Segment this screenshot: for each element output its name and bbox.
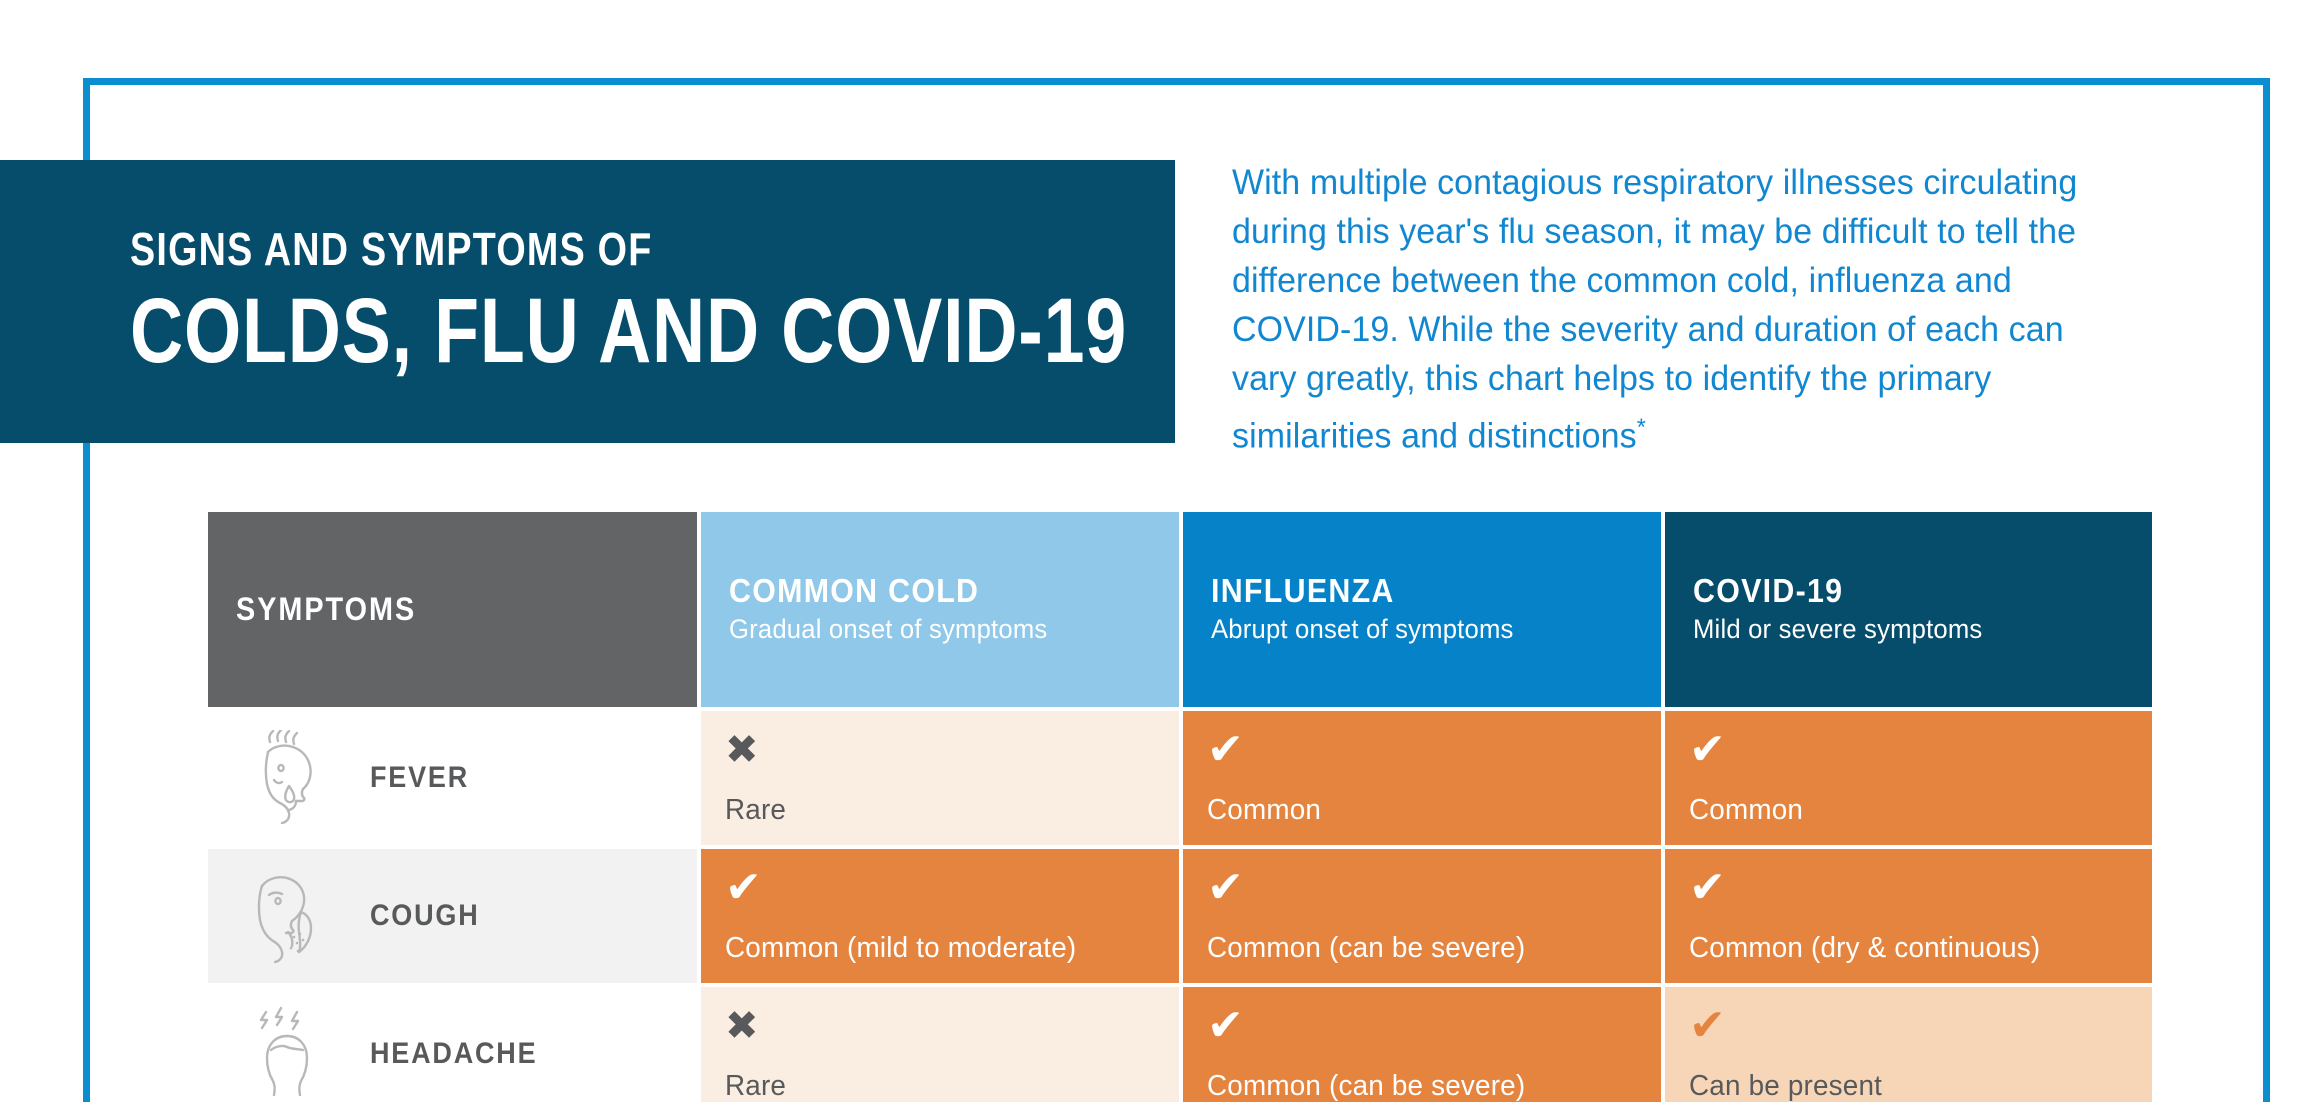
x-icon: ✖: [725, 1005, 1155, 1053]
cell-cough-common-cold: ✔ Common (mild to moderate): [701, 849, 1179, 983]
title-banner: SIGNS AND SYMPTOMS OF COLDS, FLU AND COV…: [0, 160, 1175, 443]
table-row: FEVER ✖ Rare ✔ Common ✔ Common: [208, 711, 2148, 845]
check-icon: ✔: [1689, 729, 2128, 777]
fever-face-icon: [244, 728, 330, 828]
table-row: HEADACHE ✖ Rare ✔ Common (can be severe)…: [208, 987, 2148, 1102]
cough-face-icon: [244, 866, 330, 966]
column-header-influenza: INFLUENZA Abrupt onset of symptoms: [1183, 512, 1661, 707]
infographic-page: SIGNS AND SYMPTOMS OF COLDS, FLU AND COV…: [0, 0, 2322, 1102]
cell-fever-influenza: ✔ Common: [1183, 711, 1661, 845]
cell-fever-common-cold: ✖ Rare: [701, 711, 1179, 845]
column-header-symptoms-label: SYMPTOMS: [236, 591, 626, 628]
cell-value-text: Common (mild to moderate): [725, 932, 1138, 983]
cell-headache-covid-19: ✔ Can be present: [1665, 987, 2152, 1102]
cell-value-text: Common (can be severe): [1207, 932, 1620, 983]
cell-value-text: Common: [1207, 794, 1620, 845]
symptom-label: FEVER: [370, 761, 469, 795]
footnote-marker: *: [1637, 414, 1646, 441]
symptom-comparison-table: SYMPTOMS COMMON COLD Gradual onset of sy…: [208, 512, 2148, 1102]
headache-head-icon: [244, 1004, 330, 1102]
symptom-label: COUGH: [370, 899, 480, 933]
intro-paragraph: With multiple contagious respiratory ill…: [1232, 158, 2110, 461]
column-header-influenza-title: INFLUENZA: [1211, 574, 1599, 609]
symptom-cell-fever: FEVER: [208, 711, 697, 845]
frame-right-border: [2263, 78, 2270, 1102]
check-icon: ✔: [1689, 1005, 2128, 1053]
symptom-cell-cough: COUGH: [208, 849, 697, 983]
check-icon: ✔: [1207, 867, 1637, 915]
table-row: COUGH ✔ Common (mild to moderate) ✔ Comm…: [208, 849, 2148, 983]
symptom-cell-headache: HEADACHE: [208, 987, 697, 1102]
cell-value-text: Rare: [725, 794, 1138, 845]
column-header-covid-19-subtitle: Mild or severe symptoms: [1693, 615, 2102, 645]
column-header-covid-19-title: COVID-19: [1693, 574, 2090, 609]
column-header-symptoms: SYMPTOMS: [208, 512, 697, 707]
title-eyebrow: SIGNS AND SYMPTOMS OF: [130, 226, 987, 272]
check-icon: ✔: [1689, 867, 2128, 915]
cell-fever-covid-19: ✔ Common: [1665, 711, 2152, 845]
column-header-influenza-subtitle: Abrupt onset of symptoms: [1211, 615, 1612, 645]
column-header-common-cold: COMMON COLD Gradual onset of symptoms: [701, 512, 1179, 707]
page-title: COLDS, FLU AND COVID-19: [130, 286, 966, 376]
cell-value-text: Common (dry & continuous): [1689, 932, 2110, 983]
table-header-row: SYMPTOMS COMMON COLD Gradual onset of sy…: [208, 512, 2148, 707]
check-icon: ✔: [725, 867, 1155, 915]
cell-value-text: Can be present: [1689, 1070, 2110, 1102]
cell-cough-covid-19: ✔ Common (dry & continuous): [1665, 849, 2152, 983]
x-icon: ✖: [725, 729, 1155, 777]
column-header-common-cold-title: COMMON COLD: [729, 574, 1117, 609]
cell-value-text: Common (can be severe): [1207, 1070, 1620, 1102]
column-header-covid-19: COVID-19 Mild or severe symptoms: [1665, 512, 2152, 707]
column-header-common-cold-subtitle: Gradual onset of symptoms: [729, 615, 1130, 645]
intro-text: With multiple contagious respiratory ill…: [1232, 163, 2077, 456]
cell-cough-influenza: ✔ Common (can be severe): [1183, 849, 1661, 983]
check-icon: ✔: [1207, 1005, 1637, 1053]
check-icon: ✔: [1207, 729, 1637, 777]
cell-value-text: Common: [1689, 794, 2110, 845]
cell-headache-common-cold: ✖ Rare: [701, 987, 1179, 1102]
cell-headache-influenza: ✔ Common (can be severe): [1183, 987, 1661, 1102]
frame-top-border: [83, 78, 2270, 85]
symptom-label: HEADACHE: [370, 1037, 537, 1071]
cell-value-text: Rare: [725, 1070, 1138, 1102]
